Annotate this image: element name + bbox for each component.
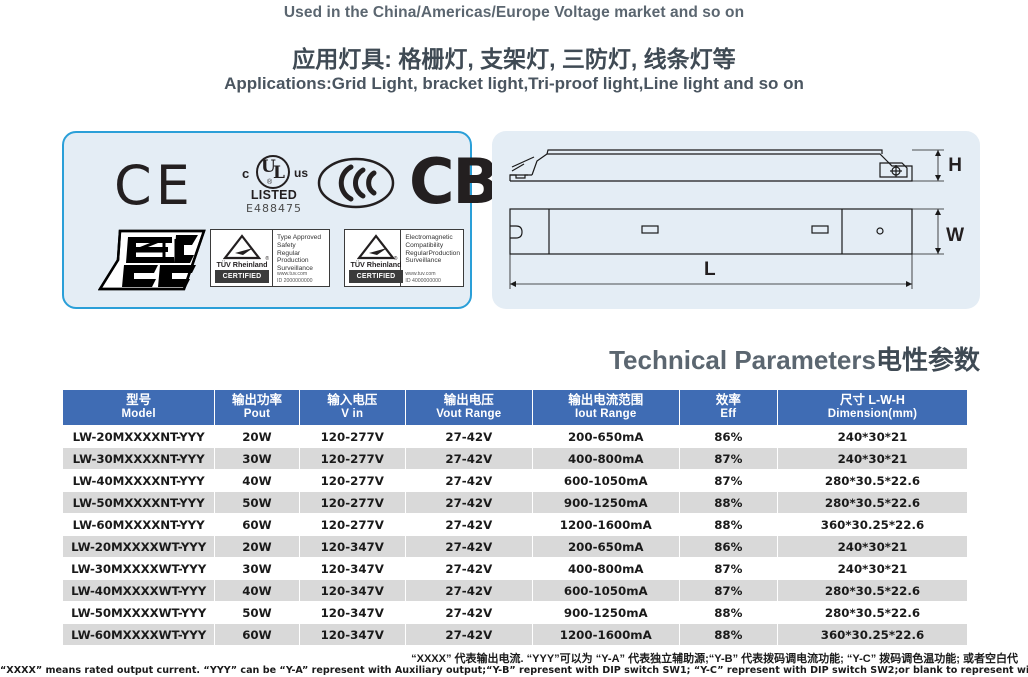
technical-parameters-table: 型号Model输出功率Pout输入电压V in输出电压Vout Range输出电… (62, 389, 968, 646)
table-header-cell-4: 输出电流范围Iout Range (533, 390, 679, 425)
table-cell-r1-c5: 87% (680, 448, 777, 469)
table-header-cell-1: 输出功率Pout (215, 390, 298, 425)
table-cell-r1-c3: 27-42V (406, 448, 532, 469)
tuv-brand-b: TÜV Rheinland (345, 260, 407, 269)
table-cell-r4-c3: 27-42V (406, 514, 532, 535)
table-cell-r9-c3: 27-42V (406, 624, 532, 645)
table-cell-r7-c2: 120-347V (300, 580, 405, 601)
table-row: LW-50MXXXXNT-YYY50W120-277V27-42V900-125… (63, 492, 967, 513)
table-cell-r4-c6: 360*30.25*22.6 (778, 514, 967, 535)
table-cell-r0-c6: 240*30*21 (778, 426, 967, 447)
tuv-line-b-2: RegularProduction (405, 250, 460, 258)
table-row: LW-50MXXXXWT-YYY50W120-347V27-42V900-125… (63, 602, 967, 623)
table-cell-r8-c6: 280*30.5*22.6 (778, 602, 967, 623)
table-cell-r1-c0: LW-30MXXXXNT-YYY (63, 448, 214, 469)
table-cell-r2-c1: 40W (215, 470, 298, 491)
applications-title-en: Applications:Grid Light, bracket light,T… (0, 74, 1028, 94)
table-cell-r8-c3: 27-42V (406, 602, 532, 623)
market-usage-text: Used in the China/Americas/Europe Voltag… (0, 4, 1028, 22)
table-cell-r0-c0: LW-20MXXXXNT-YYY (63, 426, 214, 447)
table-row: LW-40MXXXXNT-YYY40W120-277V27-42V600-105… (63, 470, 967, 491)
table-cell-r4-c4: 1200-1600mA (533, 514, 679, 535)
certification-row-top: CE c U L ® us LISTED E488475 (64, 147, 470, 221)
table-cell-r3-c6: 280*30.5*22.6 (778, 492, 967, 513)
table-cell-r2-c2: 120-277V (300, 470, 405, 491)
table-cell-r7-c3: 27-42V (406, 580, 532, 601)
table-cell-r0-c3: 27-42V (406, 426, 532, 447)
ul-us-label: us (294, 166, 308, 180)
table-cell-r5-c4: 200-650mA (533, 536, 679, 557)
table-cell-r5-c2: 120-347V (300, 536, 405, 557)
table-cell-r4-c1: 60W (215, 514, 298, 535)
table-cell-r3-c2: 120-277V (300, 492, 405, 513)
table-cell-r5-c3: 27-42V (406, 536, 532, 557)
table-cell-r3-c5: 88% (680, 492, 777, 513)
ul-file-number: E488475 (242, 202, 306, 215)
table-cell-r8-c5: 88% (680, 602, 777, 623)
table-header-cn-0: 型号 (126, 393, 151, 407)
ccc-icon (317, 157, 395, 209)
dimension-label-l: L (704, 259, 716, 281)
table-header-en-5: Eff (682, 407, 775, 421)
table-row: LW-60MXXXXWT-YYY60W120-347V27-42V1200-16… (63, 624, 967, 645)
table-header-en-4: Iout Range (535, 407, 677, 421)
table-header-cn-4: 输出电流范围 (568, 393, 643, 407)
table-header-cn-1: 输出功率 (232, 393, 282, 407)
table-cell-r2-c6: 280*30.5*22.6 (778, 470, 967, 491)
table-header-cell-0: 型号Model (63, 390, 214, 425)
tuv-badge-right-b: Electromagnetic Compatibility RegularPro… (401, 230, 463, 286)
table-cell-r5-c5: 86% (680, 536, 777, 557)
table-cell-r6-c3: 27-42V (406, 558, 532, 579)
technical-parameters-title-en: Technical Parameters (609, 345, 876, 375)
certification-row-bottom: ® TÜV Rheinland CERTIFIED Type Approved … (64, 225, 470, 297)
table-cell-r1-c6: 240*30*21 (778, 448, 967, 469)
table-cell-r4-c0: LW-60MXXXXNT-YYY (63, 514, 214, 535)
table-cell-r1-c2: 120-277V (300, 448, 405, 469)
applications-title-cn: 应用灯具: 格栅灯, 支架灯, 三防灯, 线条灯等 (0, 40, 1028, 74)
technical-parameters-title: Technical Parameters电性参数 (0, 340, 980, 377)
tuv-line-b-3: Surveillance (405, 257, 460, 265)
table-header-cell-5: 效率Eff (680, 390, 777, 425)
tuv-triangle-icon (223, 234, 261, 260)
cb-icon: CB (409, 151, 498, 213)
tuv-badge-right-a: Type Approved Safety Regular Production … (273, 230, 329, 286)
tuv-line-a-2: Regular (277, 250, 326, 258)
product-dimension-drawing: H W L (492, 131, 980, 309)
table-cell-r6-c5: 87% (680, 558, 777, 579)
table-cell-r5-c0: LW-20MXXXXWT-YYY (63, 536, 214, 557)
table-cell-r4-c2: 120-277V (300, 514, 405, 535)
driver-outline-drawing (492, 131, 980, 309)
table-cell-r5-c1: 20W (215, 536, 298, 557)
tuv-id-b: ID 4000000000 (405, 278, 440, 284)
tuv-line-a-0: Type Approved (277, 234, 326, 242)
tuv-brand-a: TÜV Rheinland (211, 260, 273, 269)
enec-icon (98, 229, 206, 291)
table-cell-r9-c0: LW-60MXXXXWT-YYY (63, 624, 214, 645)
certification-panel: CE c U L ® us LISTED E488475 (62, 131, 472, 309)
table-cell-r3-c3: 27-42V (406, 492, 532, 513)
tuv-line-b-0: Electromagnetic (405, 234, 460, 242)
table-cell-r2-c0: LW-40MXXXXNT-YYY (63, 470, 214, 491)
table-body: LW-20MXXXXNT-YYY20W120-277V27-42V200-650… (63, 426, 967, 645)
table-cell-r8-c2: 120-347V (300, 602, 405, 623)
table-cell-r2-c5: 87% (680, 470, 777, 491)
ul-registered-mark: ® (267, 179, 272, 186)
table-cell-r7-c5: 87% (680, 580, 777, 601)
table-header-en-3: Vout Range (408, 407, 530, 421)
tuv-line-a-3: Production (277, 257, 326, 265)
technical-parameters-title-cn: 电性参数 (876, 345, 980, 375)
table-row: LW-20MXXXXNT-YYY20W120-277V27-42V200-650… (63, 426, 967, 447)
ul-listed-icon: c U L ® us LISTED E488475 (242, 153, 306, 215)
tuv-certified-label-b: CERTIFIED (349, 270, 403, 283)
table-row: LW-20MXXXXWT-YYY20W120-347V27-42V200-650… (63, 536, 967, 557)
ce-icon: CE (114, 159, 194, 213)
ul-l-letter: L (273, 163, 285, 183)
table-cell-r8-c1: 50W (215, 602, 298, 623)
table-cell-r8-c0: LW-50MXXXXWT-YYY (63, 602, 214, 623)
tuv-url-a: www.tuv.com (277, 271, 307, 277)
tuv-line-a-1: Safety (277, 242, 326, 250)
table-cell-r9-c4: 1200-1600mA (533, 624, 679, 645)
table-cell-r6-c2: 120-347V (300, 558, 405, 579)
product-spec-page: Used in the China/Americas/Europe Voltag… (0, 0, 1028, 677)
ul-c-label: c (242, 166, 249, 181)
tuv-line-b-1: Compatibility (405, 242, 460, 250)
table-cell-r7-c4: 600-1050mA (533, 580, 679, 601)
table-cell-r9-c2: 120-347V (300, 624, 405, 645)
table-cell-r4-c5: 88% (680, 514, 777, 535)
table-header-cn-6: 尺寸 L-W-H (840, 393, 905, 407)
table-header-en-1: Pout (217, 407, 296, 421)
table-cell-r0-c4: 200-650mA (533, 426, 679, 447)
table-row: LW-30MXXXXNT-YYY30W120-277V27-42V400-800… (63, 448, 967, 469)
table-cell-r1-c1: 30W (215, 448, 298, 469)
dimension-label-h: H (948, 155, 962, 177)
tuv-url-b: www.tuv.com (405, 271, 435, 277)
table-header-cell-6: 尺寸 L-W-HDimension(mm) (778, 390, 967, 425)
table-row: LW-40MXXXXWT-YYY40W120-347V27-42V600-105… (63, 580, 967, 601)
table-header-en-2: V in (302, 407, 403, 421)
tuv-badge-left-a: ® TÜV Rheinland CERTIFIED (211, 230, 273, 286)
table-cell-r8-c4: 900-1250mA (533, 602, 679, 623)
table-cell-r3-c0: LW-50MXXXXNT-YYY (63, 492, 214, 513)
tuv-badge-left-b: ® TÜV Rheinland CERTIFIED (345, 230, 401, 286)
table-cell-r7-c6: 280*30.5*22.6 (778, 580, 967, 601)
table-cell-r3-c1: 50W (215, 492, 298, 513)
footnote-en: “XXXX” means rated output current. “YYY”… (0, 665, 1018, 676)
table-cell-r2-c4: 600-1050mA (533, 470, 679, 491)
table-cell-r9-c6: 360*30.25*22.6 (778, 624, 967, 645)
footnote-cn: “XXXX” 代表输出电流. “YYY”可以为 “Y-A” 代表独立辅助源;“Y… (0, 650, 1018, 666)
table-header-cn-2: 输入电压 (327, 393, 377, 407)
tuv-id-a: ID 2000000000 (277, 278, 312, 284)
table-cell-r0-c1: 20W (215, 426, 298, 447)
table-cell-r6-c6: 240*30*21 (778, 558, 967, 579)
table-header-cell-3: 输出电压Vout Range (406, 390, 532, 425)
table-cell-r6-c4: 400-800mA (533, 558, 679, 579)
table-row: LW-30MXXXXWT-YYY30W120-347V27-42V400-800… (63, 558, 967, 579)
tuv-certified-label-a: CERTIFIED (215, 270, 269, 283)
table-cell-r9-c5: 88% (680, 624, 777, 645)
table-header-row: 型号Model输出功率Pout输入电压V in输出电压Vout Range输出电… (63, 390, 967, 425)
table-cell-r6-c1: 30W (215, 558, 298, 579)
tuv-rheinland-emc-badge: ® TÜV Rheinland CERTIFIED Electromagneti… (344, 229, 464, 287)
table-header-en-0: Model (65, 407, 212, 421)
table-row: LW-60MXXXXNT-YYY60W120-277V27-42V1200-16… (63, 514, 967, 535)
table-cell-r6-c0: LW-30MXXXXWT-YYY (63, 558, 214, 579)
tuv-triangle-icon (357, 234, 395, 260)
table-cell-r7-c1: 40W (215, 580, 298, 601)
table-header-en-6: Dimension(mm) (780, 407, 965, 421)
table-cell-r7-c0: LW-40MXXXXWT-YYY (63, 580, 214, 601)
ul-listed-label: LISTED (242, 188, 306, 202)
table-cell-r0-c2: 120-277V (300, 426, 405, 447)
table-header-cell-2: 输入电压V in (300, 390, 405, 425)
table-cell-r5-c6: 240*30*21 (778, 536, 967, 557)
table-header-cn-3: 输出电压 (444, 393, 494, 407)
table-cell-r1-c4: 400-800mA (533, 448, 679, 469)
table-cell-r0-c5: 86% (680, 426, 777, 447)
dimension-label-w: W (946, 225, 964, 247)
table-header-cn-5: 效率 (716, 393, 741, 407)
table-cell-r9-c1: 60W (215, 624, 298, 645)
table-cell-r3-c4: 900-1250mA (533, 492, 679, 513)
tuv-rheinland-type-approved-badge: ® TÜV Rheinland CERTIFIED Type Approved … (210, 229, 330, 287)
table-cell-r2-c3: 27-42V (406, 470, 532, 491)
